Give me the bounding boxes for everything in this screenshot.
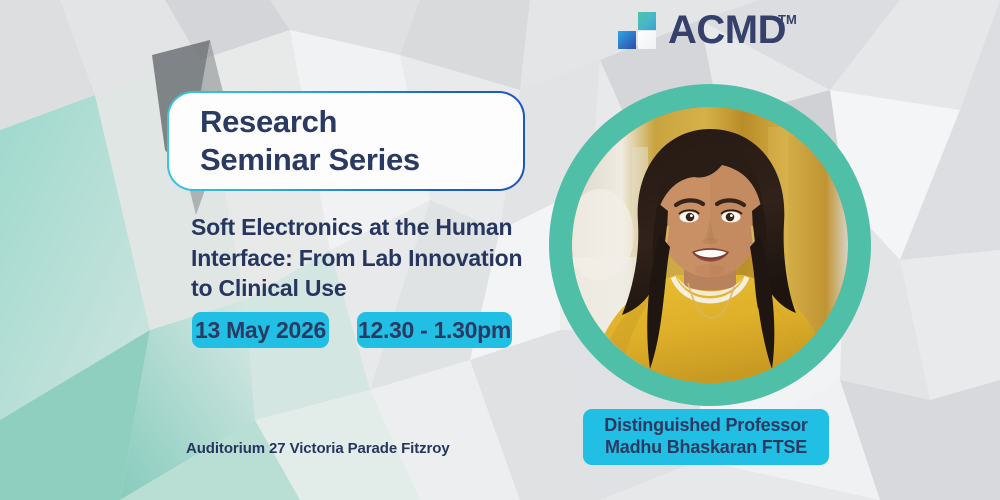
logo-square-bottom-right [638,31,656,49]
portrait-ring [549,84,871,406]
series-title-line-1: Research [200,103,523,141]
series-title-line-2: Seminar Series [200,141,523,179]
speaker-name-banner: Distinguished Professor Madhu Bhaskaran … [583,409,829,465]
research-seminar-series-box: Research Seminar Series [167,91,525,191]
series-box-inner: Research Seminar Series [169,93,523,189]
date-badge: 13 May 2026 [192,312,329,348]
seminar-poster: ACMD TM Research Seminar Series Soft Ele… [0,0,1000,500]
venue-text: Auditorium 27 Victoria Parade Fitzroy [186,440,450,457]
speaker-portrait [572,107,848,383]
trademark-symbol: TM [778,12,797,27]
seminar-title: Soft Electronics at the Human Interface:… [191,212,531,304]
acmd-squares-logo-icon [618,10,658,50]
speaker-name-line: Madhu Bhaskaran FTSE [605,437,807,459]
logo-square-top-right [638,12,656,30]
logo-square-bottom-left [618,31,636,49]
acmd-logo: ACMD [618,10,786,50]
speaker-title-line: Distinguished Professor [604,415,807,437]
time-badge: 12.30 - 1.30pm [357,312,512,348]
acmd-wordmark: ACMD [668,10,786,50]
